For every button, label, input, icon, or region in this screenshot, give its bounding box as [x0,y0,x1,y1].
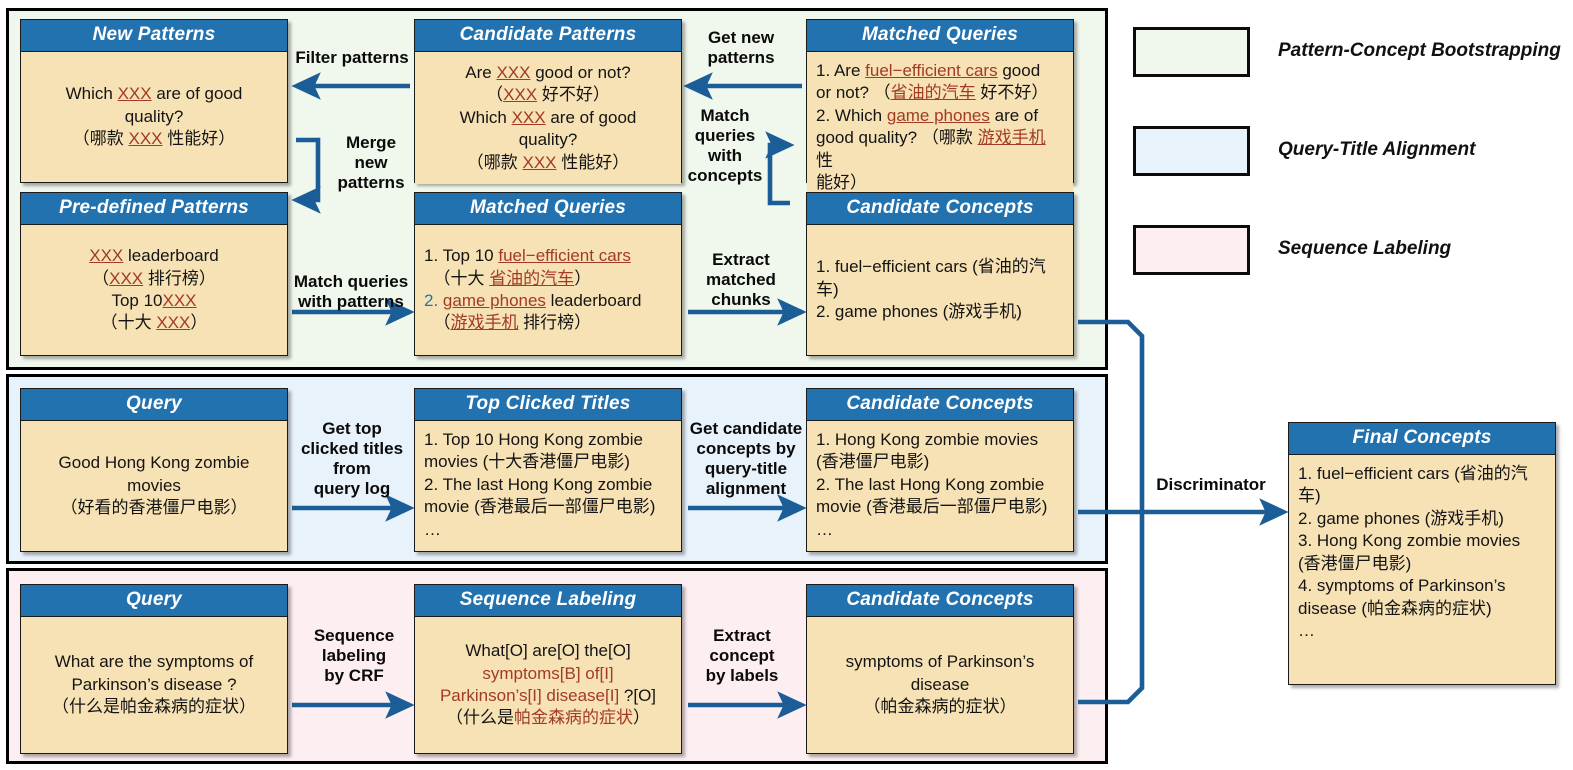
text-segment: （ [424,313,450,332]
text-line: symptoms of Parkinson’s [816,651,1064,673]
text-line: Parkinson’s disease ? [30,674,278,696]
text-line: Top 10XXX [30,290,278,312]
card-body: Good Hong Kong zombiemovies（好看的香港僵尸电影） [21,421,287,551]
card-new-patterns[interactable]: New Patterns Which XXX are of goodqualit… [20,19,288,183]
edge-label-extract-matched-chunks: Extract matched chunks [692,250,790,310]
card-title: Final Concepts [1289,423,1555,455]
text-line: （十大 XXX） [30,312,278,334]
text-segment: … [816,520,833,539]
edge-label-get-candidate-concepts: Get candidate concepts by query-title al… [686,419,806,499]
text-segment: 游戏手机 [978,128,1046,147]
text-line: good quality? （哪款 游戏手机 性 [816,127,1064,172]
text-line: 1. fuel−efficient cars (省油的汽 [816,256,1064,278]
text-line: （什么是帕金森病的症状） [424,707,672,729]
text-line: symptoms[B] of[I] [424,663,672,685]
text-line: movie (香港最后一部僵尸电影) [816,496,1064,518]
text-line: What are the symptoms of [30,651,278,673]
text-line: 1. Top 10 Hong Kong zombie [424,429,672,451]
card-body: What are the symptoms ofParkinson’s dise… [21,617,287,753]
card-title: Candidate Patterns [415,20,681,52]
text-segment: ） [574,269,591,288]
card-title: Candidate Concepts [807,193,1073,225]
text-segment: What are the symptoms of [55,652,253,671]
text-segment: movies (十大香港僵尸电影) [424,452,630,471]
text-segment: 1. Are [816,61,865,80]
text-segment: or not? （ [816,83,891,102]
text-segment: 游戏手机 [450,313,518,332]
text-segment: 省油的汽车 [891,83,976,102]
text-segment: （好看的香港僵尸电影） [61,498,248,517]
text-segment: XXX [503,85,537,104]
card-query-sequence[interactable]: Query What are the symptoms ofParkinson’… [20,584,288,754]
text-segment: disease [911,675,970,694]
text-line: 2. game phones (游戏手机) [1298,508,1546,530]
text-segment: （ [92,269,109,288]
text-segment: 1. Top 10 [424,246,498,265]
text-line: Which XXX are of good [30,83,278,105]
card-body: Which XXX are of goodquality?（哪款 XXX 性能好… [21,52,287,182]
text-line: 1. fuel−efficient cars (省油的汽 [1298,463,1546,485]
text-segment: 1. fuel−efficient cars (省油的汽 [816,257,1046,276]
text-line: （哪款 XXX 性能好） [30,128,278,150]
text-segment: 2. The last Hong Kong zombie [816,475,1044,494]
text-line: 3. Hong Kong zombie movies [1298,530,1546,552]
text-segment: 帕金森病的症状 [514,708,633,727]
text-line: (香港僵尸电影) [816,451,1064,473]
text-segment: Top 10 [111,291,162,310]
text-segment: XXX [512,108,546,127]
text-line: Parkinson’s[I] disease[I] ?[O] [424,685,672,707]
card-top-clicked-titles[interactable]: Top Clicked Titles 1. Top 10 Hong Kong z… [414,388,682,552]
card-title: Query [21,389,287,421]
text-segment: game phones [887,106,990,125]
card-title: Matched Queries [807,20,1073,52]
text-line: （帕金森病的症状） [816,696,1064,718]
card-body: symptoms of Parkinson’sdisease（帕金森病的症状） [807,617,1073,753]
text-segment: are of good [152,84,243,103]
text-segment: good or not? [531,63,631,82]
text-line: 1. Are fuel−efficient cars good [816,60,1064,82]
text-segment: 1. Top 10 Hong Kong zombie [424,430,643,449]
text-segment: quality? [125,107,184,126]
text-segment: Are [465,63,496,82]
legend-label-sequence-labeling: Sequence Labeling [1278,238,1451,260]
text-line: 1. Top 10 fuel−efficient cars [424,245,672,267]
card-final-concepts[interactable]: Final Concepts 1. fuel−efficient cars (省… [1288,422,1556,685]
text-line: （哪款 XXX 性能好） [424,152,672,174]
text-line: or not? （省油的汽车 好不好） [816,82,1064,104]
card-sequence-labeling[interactable]: Sequence Labeling What[O] are[O] the[O]s… [414,584,682,754]
text-segment: 车) [816,280,839,299]
text-segment: ） [190,313,207,332]
text-line: XXX leaderboard [30,245,278,267]
card-body: Are XXX good or not?（XXX 好不好）Which XXX a… [415,52,681,184]
text-segment: （什么是帕金森病的症状） [52,697,256,716]
text-segment: What[O] are[O] the[O] [465,641,630,660]
text-segment: disease (帕金森病的症状) [1298,599,1492,618]
text-line: quality? [30,106,278,128]
diagram-canvas: New Patterns Which XXX are of goodqualit… [0,0,1573,770]
text-segment: 2. game phones (游戏手机) [1298,509,1504,528]
card-query-alignment[interactable]: Query Good Hong Kong zombiemovies（好看的香港僵… [20,388,288,552]
legend-label-pattern-concept-bootstrapping: Pattern-Concept Bootstrapping [1278,40,1561,62]
text-segment: good quality? （哪款 [816,128,978,147]
edge-label-discriminator: Discriminator [1140,475,1282,495]
text-segment: ?[O] [619,686,656,705]
card-title: Candidate Concepts [807,585,1073,617]
text-segment: 1. fuel−efficient cars (省油的汽 [1298,464,1528,483]
text-segment: are of [990,106,1038,125]
text-line: movies [30,475,278,497]
text-segment: XXX [522,153,556,172]
text-segment: quality? [519,130,578,149]
card-body: 1. fuel−efficient cars (省油的汽车)2. game ph… [1289,455,1555,684]
text-segment: symptoms[B] of[I] [482,664,613,683]
text-line: 2. game phones leaderboard [424,290,672,312]
edge-label-extract-concept-by-labels: Extract concept by labels [694,626,790,686]
text-line: … [1298,620,1546,642]
text-segment: XXX [128,129,162,148]
text-segment: 2. game phones (游戏手机) [816,302,1022,321]
text-segment: 性能好） [163,129,236,148]
card-title: Top Clicked Titles [415,389,681,421]
legend-swatch-query-title-alignment [1133,126,1250,176]
text-line: 4. symptoms of Parkinson’s [1298,575,1546,597]
text-segment: leaderboard [546,291,641,310]
text-line: 1. Hong Kong zombie movies [816,429,1064,451]
card-candidate-patterns[interactable]: Candidate Patterns Are XXX good or not?（… [414,19,682,183]
text-line: 车) [816,279,1064,301]
text-segment: 性能好） [557,153,630,172]
edge-label-match-queries-with-concepts: Match queries with concepts [684,106,766,186]
text-segment: good [998,61,1041,80]
text-line: （好看的香港僵尸电影） [30,497,278,519]
text-segment: （哪款 [467,153,523,172]
text-segment: (香港僵尸电影) [1298,554,1411,573]
text-segment: 4. symptoms of Parkinson’s [1298,576,1506,595]
text-segment: （ [486,85,503,104]
text-segment: （什么是 [446,708,514,727]
legend-label-query-title-alignment: Query-Title Alignment [1278,139,1475,161]
text-segment: ） [633,708,650,727]
text-segment: 排行榜） [518,313,591,332]
text-segment: leaderboard [123,246,218,265]
card-title: Sequence Labeling [415,585,681,617]
text-segment: XXX [156,313,190,332]
card-pre-defined-patterns[interactable]: Pre-defined Patterns XXX leaderboard（XXX… [20,192,288,356]
card-title: Pre-defined Patterns [21,193,287,225]
text-segment: are of good [546,108,637,127]
text-line: （游戏手机 排行榜） [424,312,672,334]
text-segment: XXX [89,246,123,265]
text-segment: fuel−efficient cars [498,246,630,265]
text-segment: Which [66,84,118,103]
text-line: Are XXX good or not? [424,62,672,84]
text-segment: （帕金森病的症状） [864,697,1017,716]
text-segment: movie (香港最后一部僵尸电影) [424,497,655,516]
text-segment: XXX [163,291,197,310]
text-segment: movie (香港最后一部僵尸电影) [816,497,1047,516]
text-segment: （十大 [101,313,157,332]
text-segment: 1. Hong Kong zombie movies [816,430,1038,449]
edge-label-merge-new-patterns: Merge new patterns [330,133,412,193]
text-segment: Which [460,108,512,127]
card-body: What[O] are[O] the[O]symptoms[B] of[I]Pa… [415,617,681,753]
card-title: New Patterns [21,20,287,52]
text-segment: 好不好） [976,83,1049,102]
card-body: 1. Top 10 Hong Kong zombiemovies (十大香港僵尸… [415,421,681,551]
text-line: Which XXX are of good [424,107,672,129]
text-segment: … [1298,621,1315,640]
card-candidate-concepts-alignment[interactable]: Candidate Concepts 1. Hong Kong zombie m… [806,388,1074,552]
text-segment: 2. The last Hong Kong zombie [424,475,652,494]
text-line: 2. The last Hong Kong zombie [424,474,672,496]
text-segment: XXX [109,269,143,288]
card-title: Matched Queries [415,193,681,225]
text-line: … [816,519,1064,541]
text-segment: 2. Which [816,106,887,125]
text-segment: （哪款 [73,129,129,148]
card-body: 1. Hong Kong zombie movies(香港僵尸电影)2. The… [807,421,1073,551]
card-body: 1. Are fuel−efficient cars goodor not? （… [807,52,1073,205]
text-segment: (香港僵尸电影) [816,452,929,471]
text-segment: 能好） [816,173,867,192]
text-segment: Parkinson’s[I] disease[I] [440,686,619,705]
edge-label-get-top-clicked-titles: Get top clicked titles from query log [292,419,412,499]
text-segment: 排行榜） [143,269,216,288]
text-line: 2. game phones (游戏手机) [816,301,1064,323]
text-segment: XXX [118,84,152,103]
text-line: quality? [424,129,672,151]
text-segment: 好不好） [537,85,610,104]
legend-swatch-sequence-labeling [1133,225,1250,275]
text-segment: 2. [424,291,443,310]
text-segment: symptoms of Parkinson’s [846,652,1035,671]
text-line: 2. The last Hong Kong zombie [816,474,1064,496]
text-segment: 车) [1298,486,1321,505]
text-segment: 省油的汽车 [489,269,574,288]
text-line: （什么是帕金森病的症状） [30,696,278,718]
text-segment: movies [127,476,181,495]
text-segment: Parkinson’s disease ? [71,675,236,694]
text-line: （XXX 排行榜） [30,268,278,290]
card-matched-queries-upper[interactable]: Matched Queries 1. Are fuel−efficient ca… [806,19,1074,183]
edge-label-match-queries-with-patterns: Match queries with patterns [288,272,414,312]
card-matched-queries-lower[interactable]: Matched Queries 1. Top 10 fuel−efficient… [414,192,682,356]
text-line: disease (帕金森病的症状) [1298,598,1546,620]
card-body: 1. fuel−efficient cars (省油的汽车)2. game ph… [807,225,1073,355]
edge-label-filter-patterns: Filter patterns [292,48,412,68]
card-candidate-concepts-sequence[interactable]: Candidate Concepts symptoms of Parkinson… [806,584,1074,754]
text-segment: game phones [443,291,546,310]
text-line: … [424,519,672,541]
text-line: （XXX 好不好） [424,84,672,106]
edge-label-get-new-patterns: Get new patterns [686,28,796,68]
text-line: movie (香港最后一部僵尸电影) [424,496,672,518]
legend-swatch-pattern-concept-bootstrapping [1133,27,1250,77]
edge-label-sequence-labeling-by-crf: Sequence labeling by CRF [296,626,412,686]
card-body: XXX leaderboard（XXX 排行榜）Top 10XXX（十大 XXX… [21,225,287,355]
text-line: disease [816,674,1064,696]
text-segment: XXX [496,63,530,82]
card-title: Query [21,585,287,617]
text-line: Good Hong Kong zombie [30,452,278,474]
text-line: (香港僵尸电影) [1298,553,1546,575]
text-segment: 3. Hong Kong zombie movies [1298,531,1520,550]
text-segment: Good Hong Kong zombie [59,453,250,472]
card-body: 1. Top 10 fuel−efficient cars （十大 省油的汽车）… [415,225,681,355]
text-segment: … [424,520,441,539]
card-candidate-concepts-bootstrapping[interactable]: Candidate Concepts 1. fuel−efficient car… [806,192,1074,356]
text-segment: fuel−efficient cars [865,61,997,80]
text-line: movies (十大香港僵尸电影) [424,451,672,473]
text-line: 车) [1298,485,1546,507]
text-line: What[O] are[O] the[O] [424,640,672,662]
text-line: 2. Which game phones are of [816,105,1064,127]
text-line: （十大 省油的汽车） [424,268,672,290]
card-title: Candidate Concepts [807,389,1073,421]
text-segment: （十大 [424,269,489,288]
